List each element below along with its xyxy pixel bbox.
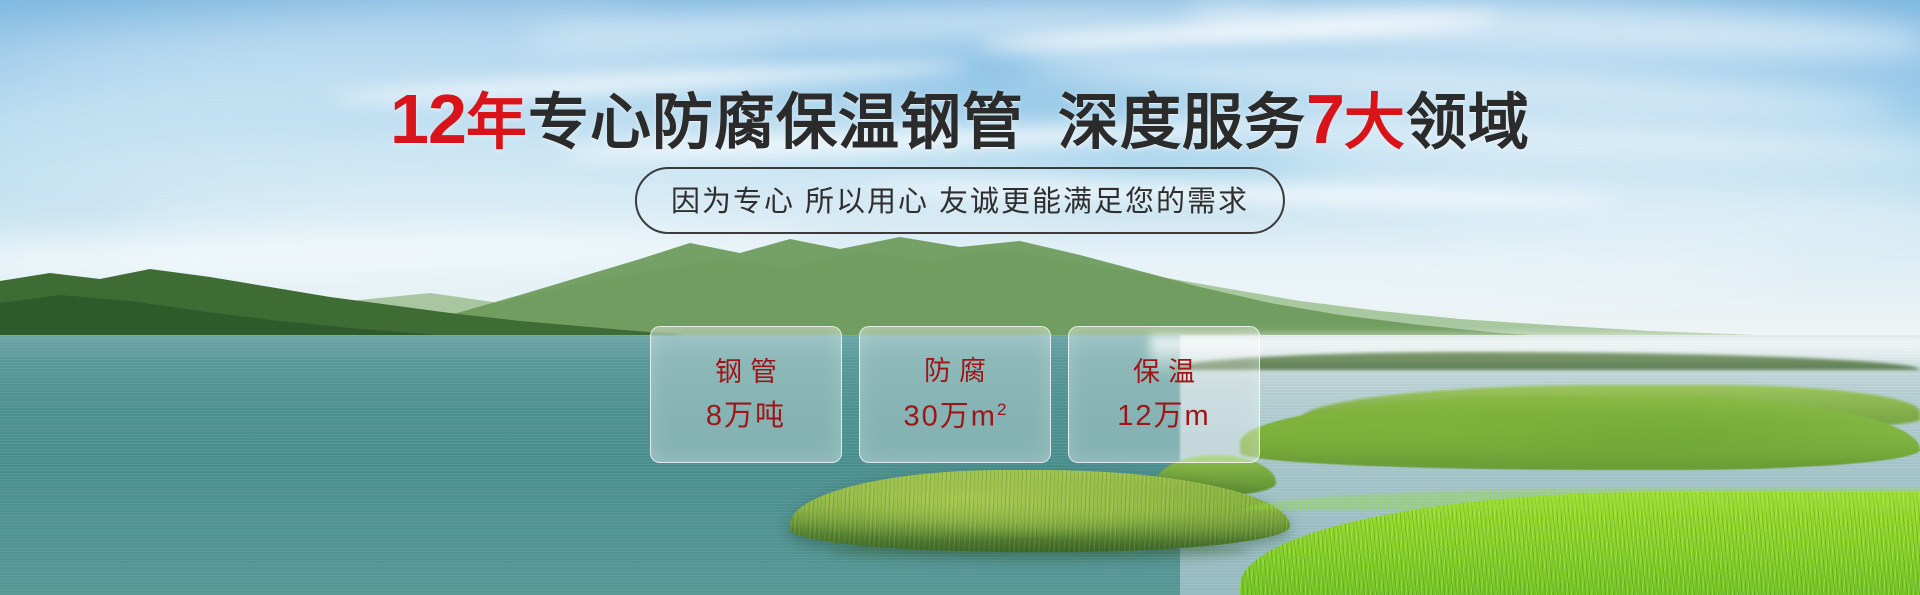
headline-middle-text: 专心防腐保温钢管: [528, 88, 1024, 156]
stat-card-value-text: 8万吨: [706, 400, 786, 432]
headline-years-unit: 年: [466, 88, 528, 156]
banner-subtitle-pill: 因为专心 所以用心 友诚更能满足您的需求: [635, 167, 1285, 234]
stat-card-steel-pipe[interactable]: 钢管 8万吨: [650, 326, 842, 463]
hero-banner: 12年专心防腐保温钢管深度服务7大领域 因为专心 所以用心 友诚更能满足您的需求…: [0, 0, 1920, 595]
headline-fields-number: 7: [1306, 80, 1344, 158]
stat-card-label: 防腐: [916, 358, 994, 385]
banner-subtitle-text: 因为专心 所以用心 友诚更能满足您的需求: [671, 186, 1249, 218]
stat-card-value: 8万吨: [706, 402, 786, 431]
stat-card-list: 钢管 8万吨 防腐 30万m2 保温 12万m: [650, 326, 1260, 463]
stat-card-label: 钢管: [707, 359, 785, 386]
headline-years-number: 12: [390, 80, 466, 158]
stat-card-value-superscript: 2: [997, 400, 1006, 419]
stat-card-anticorrosion[interactable]: 防腐 30万m2: [859, 326, 1051, 463]
headline-fields-unit: 大: [1344, 88, 1406, 156]
banner-headline: 12年专心防腐保温钢管深度服务7大领域: [0, 84, 1920, 154]
stat-card-value: 12万m: [1117, 402, 1210, 431]
stat-card-value-text: 30万m: [904, 400, 997, 432]
stat-card-value-text: 12万m: [1117, 400, 1210, 432]
stat-card-insulation[interactable]: 保温 12万m: [1068, 326, 1260, 463]
stat-card-label: 保温: [1125, 359, 1203, 386]
banner-content: 12年专心防腐保温钢管深度服务7大领域 因为专心 所以用心 友诚更能满足您的需求…: [0, 0, 1920, 595]
stat-card-value: 30万m2: [904, 401, 1007, 432]
headline-tail-text: 领域: [1406, 88, 1530, 156]
headline-service-text: 深度服务: [1058, 88, 1306, 156]
